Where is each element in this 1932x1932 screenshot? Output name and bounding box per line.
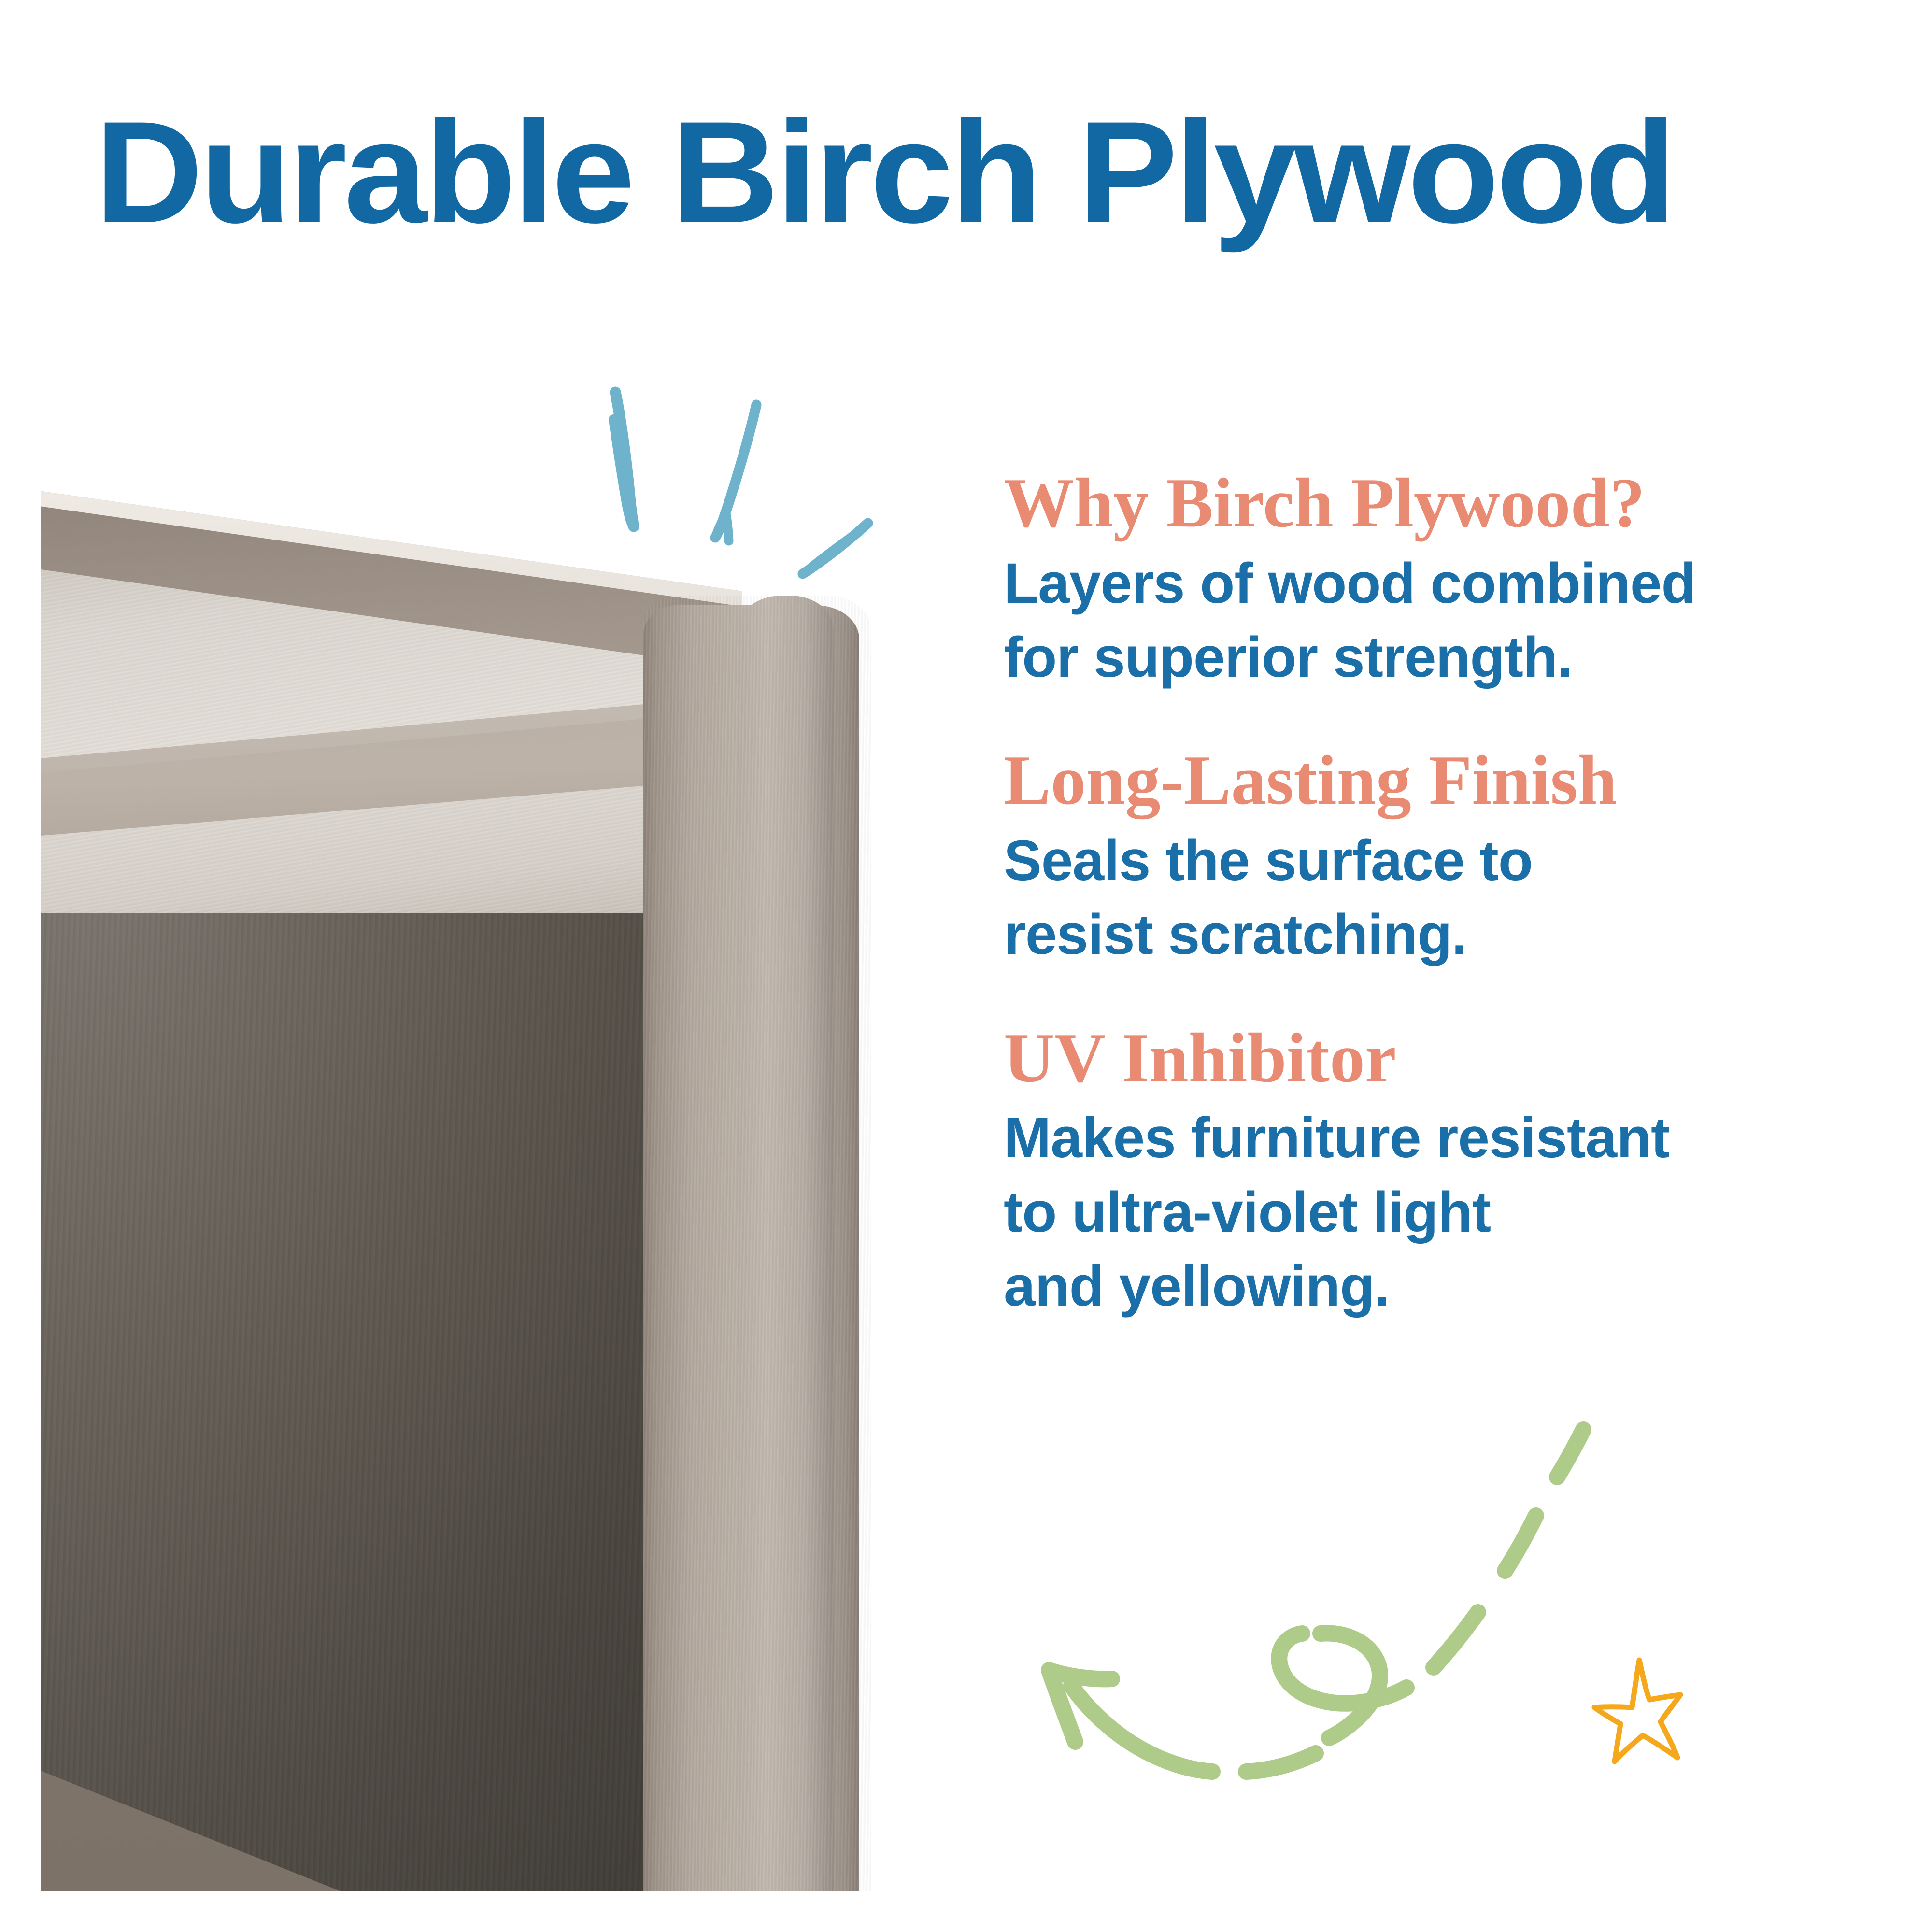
- page-title: Durable Birch Plywood: [95, 99, 1932, 244]
- feature-heading: Long-Lasting Finish: [1004, 741, 1888, 820]
- feature-body-line: to ultra-violet light: [1004, 1176, 1888, 1250]
- infographic-canvas: Durable Birch Plywood: [0, 0, 1932, 1932]
- curved-dashed-arrow-icon: [1029, 1415, 1618, 1816]
- arrow-loop-tail: [1321, 1634, 1380, 1738]
- product-photo: [41, 478, 871, 1891]
- arrow-dash-segment: [1505, 1516, 1536, 1571]
- star-outline: [1594, 1660, 1680, 1762]
- feature-body-line: Seals the surface to: [1004, 824, 1888, 898]
- cabinet-illustration: [41, 478, 871, 1891]
- feature-body-line: resist scratching.: [1004, 898, 1888, 972]
- feature-block: UV Inhibitor Makes furniture resistant t…: [1004, 1019, 1888, 1324]
- feature-list: Why Birch Plywood? Layers of wood combin…: [1004, 464, 1888, 1323]
- feature-block: Long-Lasting Finish Seals the surface to…: [1004, 741, 1888, 972]
- sparkle-group: [580, 382, 889, 584]
- cabinet-side-grain: [643, 596, 871, 1891]
- feature-block: Why Birch Plywood? Layers of wood combin…: [1004, 464, 1888, 695]
- feature-body: Layers of wood combined for superior str…: [1004, 547, 1888, 695]
- feature-heading: Why Birch Plywood?: [1004, 464, 1888, 543]
- sparkle-stroke-icon: [803, 526, 866, 574]
- feature-body-line: Makes furniture resistant: [1004, 1101, 1888, 1175]
- feature-body-line: for superior strength.: [1004, 621, 1888, 695]
- arrow-dash-segment: [1246, 1753, 1316, 1772]
- feature-body-line: and yellowing.: [1004, 1250, 1888, 1323]
- feature-body: Seals the surface to resist scratching.: [1004, 824, 1888, 972]
- arrow-dash-segment: [1434, 1612, 1478, 1667]
- feature-body: Makes furniture resistant to ultra-viole…: [1004, 1101, 1888, 1323]
- arrow-dash-segment: [1557, 1430, 1583, 1477]
- hand-drawn-star-icon: [1591, 1640, 1717, 1768]
- arrow-dash-segment: [1071, 1686, 1212, 1772]
- sparkle-stroke-icon: [715, 514, 729, 541]
- feature-body-line: Layers of wood combined: [1004, 547, 1888, 621]
- feature-heading: UV Inhibitor: [1004, 1019, 1888, 1098]
